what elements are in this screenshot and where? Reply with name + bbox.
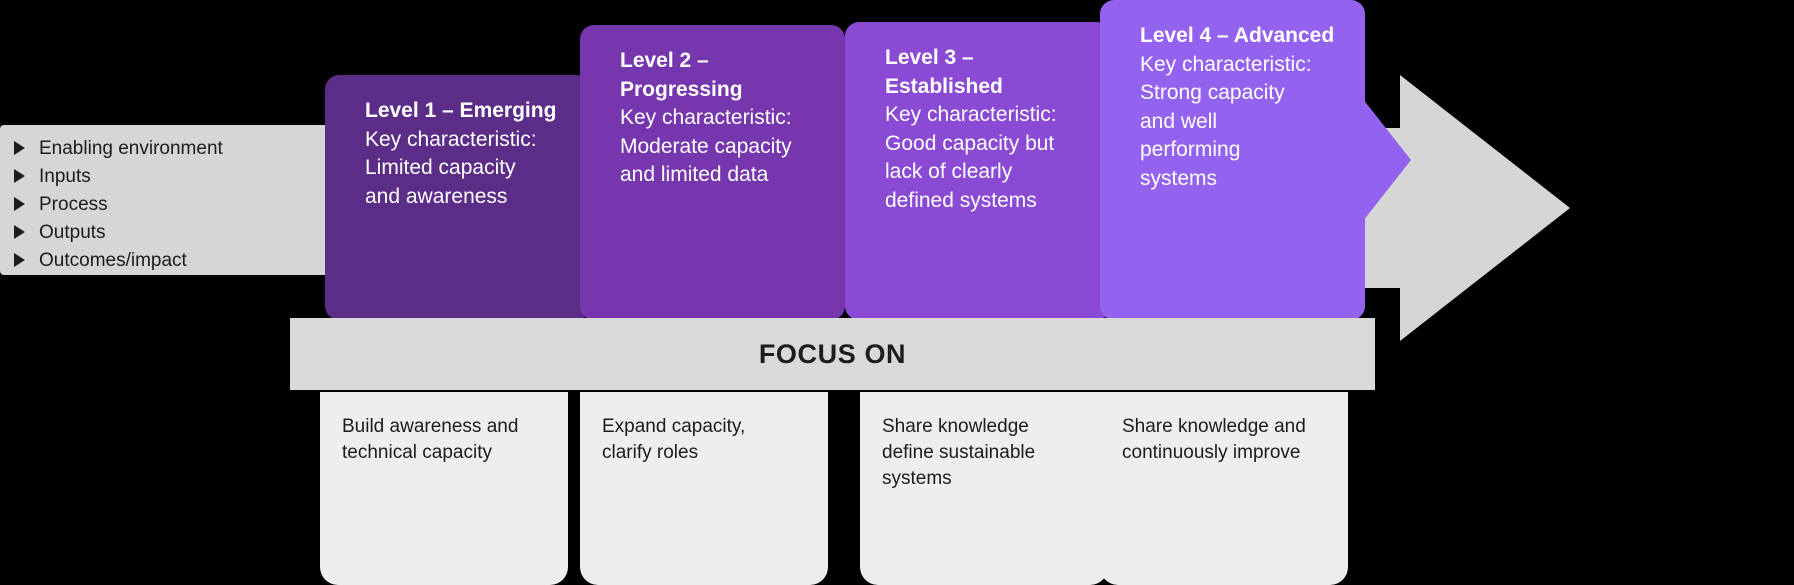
- criteria-item: Enabling environment: [14, 134, 340, 162]
- triangle-right-icon: [14, 141, 25, 155]
- criteria-item: Inputs: [14, 162, 340, 190]
- level-3-body: Key characteristic: Good capacity but la…: [885, 101, 1094, 215]
- focus-card-1: Build awareness and technical capacity: [320, 392, 568, 585]
- criteria-item: Outcomes/impact: [14, 246, 340, 274]
- level-1-body: Key characteristic: Limited capacity and…: [365, 126, 574, 212]
- level-4-body: Key characteristic: Strong capacity and …: [1140, 51, 1349, 194]
- focus-card-4: Share knowledge and continuously improve: [1100, 392, 1348, 585]
- focus-card-2: Expand capacity, clarify roles: [580, 392, 828, 585]
- maturity-model-diagram: Enabling environment Inputs Process Outp…: [0, 0, 1794, 585]
- level-4-title: Level 4 – Advanced: [1140, 22, 1349, 51]
- level-1-title: Level 1 – Emerging: [365, 97, 574, 126]
- focus-on-label: FOCUS ON: [759, 339, 906, 370]
- level-card-1: Level 1 – Emerging Key characteristic: L…: [325, 75, 590, 320]
- triangle-right-icon: [14, 169, 25, 183]
- criteria-item: Process: [14, 190, 340, 218]
- criteria-item-label: Outputs: [39, 223, 106, 242]
- level-2-title: Level 2 – Progressing: [620, 47, 829, 104]
- criteria-item-label: Outcomes/impact: [39, 251, 187, 270]
- criteria-item-label: Process: [39, 195, 108, 214]
- level-card-2: Level 2 – Progressing Key characteristic…: [580, 25, 845, 320]
- criteria-item-label: Inputs: [39, 167, 91, 186]
- level-card-3: Level 3 – Established Key characteristic…: [845, 22, 1110, 320]
- focus-card-3: Share knowledge define sustainable syste…: [860, 392, 1108, 585]
- triangle-right-icon: [14, 225, 25, 239]
- focus-on-banner: FOCUS ON: [290, 318, 1375, 390]
- triangle-right-icon: [14, 197, 25, 211]
- level-3-title: Level 3 – Established: [885, 44, 1094, 101]
- criteria-item: Outputs: [14, 218, 340, 246]
- level-card-4: Level 4 – Advanced Key characteristic: S…: [1100, 0, 1365, 320]
- level-2-body: Key characteristic: Moderate capacity an…: [620, 104, 829, 190]
- criteria-item-label: Enabling environment: [39, 139, 223, 158]
- triangle-right-icon: [14, 253, 25, 267]
- criteria-panel: Enabling environment Inputs Process Outp…: [0, 125, 340, 275]
